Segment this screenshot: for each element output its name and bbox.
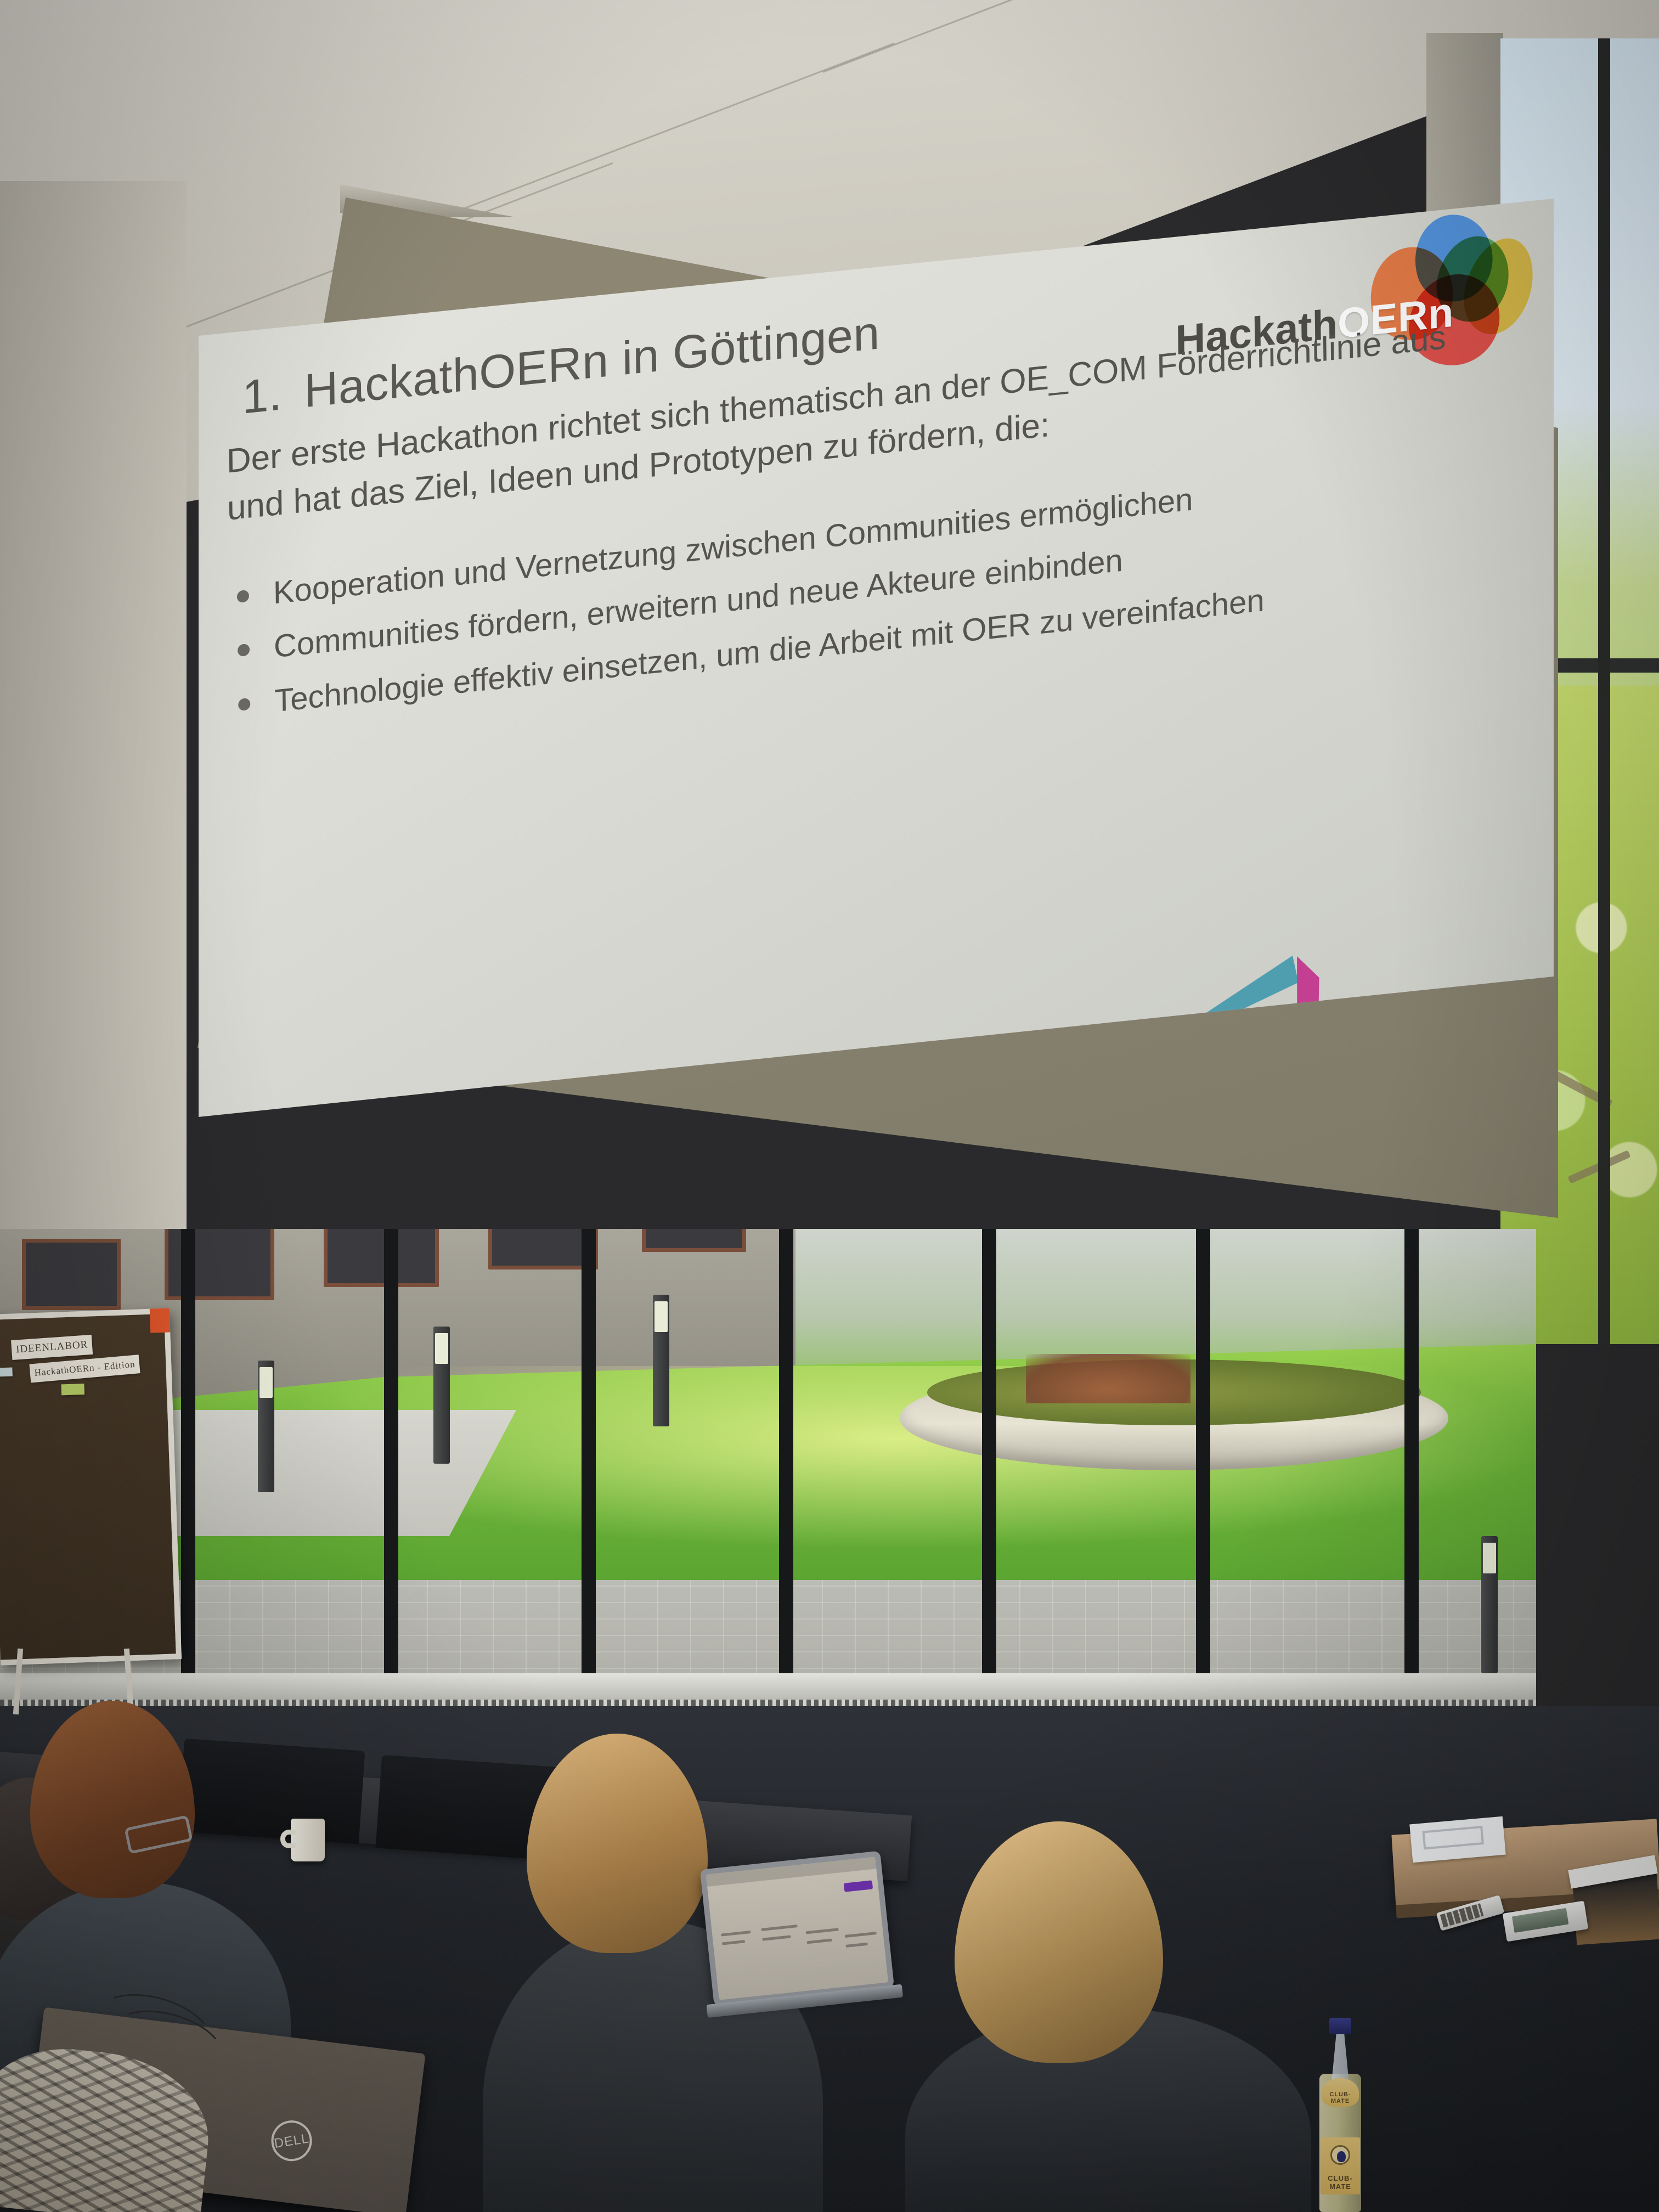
pinboard-sticky-blue: [0, 1367, 13, 1376]
club-mate-bottle[interactable]: CLUB-MATE CLUB-MATE: [1319, 2008, 1361, 2212]
mug-handle: [280, 1830, 296, 1848]
window-mullion-vertical: [1196, 1229, 1210, 1723]
pinboard-sticky-green: [61, 1384, 84, 1395]
laptop-screen-text-line: [846, 1943, 868, 1948]
bottle-cap: [1329, 2018, 1351, 2034]
facade-window: [642, 1229, 746, 1252]
planter-shrub: [1026, 1354, 1190, 1403]
laptop-screen-accent-badge: [844, 1880, 873, 1892]
facade-window: [22, 1239, 121, 1310]
window-mullion-vertical: [384, 1229, 398, 1723]
bottle-collar-text: CLUB-MATE: [1322, 2091, 1359, 2104]
window-mullion-vertical: [1404, 1229, 1419, 1723]
bottle-main-label: CLUB-MATE: [1321, 2137, 1360, 2194]
slide-title-number: 1.: [242, 367, 283, 424]
slide-content-plane: HackathOERn 1.HackathOERn in Göttingen D…: [165, 198, 1569, 1130]
window-mullion-vertical: [982, 1229, 996, 1723]
laptop-screen-text-line: [722, 1940, 745, 1945]
courtyard-window-wall: [0, 1229, 1536, 1723]
paper-printed-box: [1422, 1826, 1484, 1849]
window-mullion-vertical: [582, 1229, 596, 1723]
dell-logo-icon: DELL: [268, 2118, 315, 2164]
bottle-brand-text: CLUB-MATE: [1321, 2174, 1360, 2191]
bollard-lamp: [1481, 1536, 1498, 1673]
photo-scene: HackathOERn 1.HackathOERn in Göttingen D…: [0, 0, 1659, 2212]
bottle-neck: [1331, 2029, 1349, 2084]
pinboard-note-edition: HackathOERn - Edition: [29, 1355, 140, 1383]
presentation-slide: HackathOERn 1.HackathOERn in Göttingen D…: [165, 198, 1569, 1130]
paper-sheet: [1409, 1816, 1505, 1863]
laptop-screen-text-line: [845, 1932, 877, 1938]
pinboard: IDEENLABOR HackathOERn - Edition: [0, 1308, 182, 1665]
pinboard-note-ideenlabor: IDEENLABOR: [11, 1335, 93, 1360]
window-mullion-vertical: [181, 1229, 195, 1723]
bollard-lamp-head: [1483, 1543, 1496, 1573]
bollard-lamp: [653, 1295, 669, 1426]
laptop-screen[interactable]: [706, 1857, 888, 2000]
laptop-lid: [700, 1851, 894, 2006]
bollard-lamp-head: [259, 1367, 273, 1398]
touch-panel-display[interactable]: [1512, 1908, 1568, 1933]
bollard-lamp: [258, 1361, 274, 1492]
laptop-screen-text-line: [806, 1939, 832, 1944]
bottle-collar-label: CLUB-MATE: [1322, 2078, 1359, 2107]
open-laptop[interactable]: [700, 1851, 897, 2028]
facade-window: [324, 1229, 439, 1287]
bollard-lamp-head: [654, 1301, 668, 1332]
projection-screen: HackathOERn 1.HackathOERn in Göttingen D…: [0, 0, 1659, 1426]
seat-back: [178, 1739, 365, 1844]
bollard-lamp: [433, 1327, 450, 1464]
laptop-screen-text-line: [762, 1935, 791, 1940]
laptop-screen-text-line: [721, 1931, 751, 1937]
club-mate-emblem-icon: [1330, 2145, 1350, 2165]
coffee-mug[interactable]: [291, 1819, 325, 1861]
bollard-lamp-head: [435, 1333, 448, 1364]
laptop-screen-text-line: [806, 1928, 839, 1934]
window-mullion-vertical: [779, 1229, 793, 1723]
laptop-screen-text-line: [761, 1925, 798, 1931]
pinboard-corner-accent: [150, 1308, 171, 1333]
